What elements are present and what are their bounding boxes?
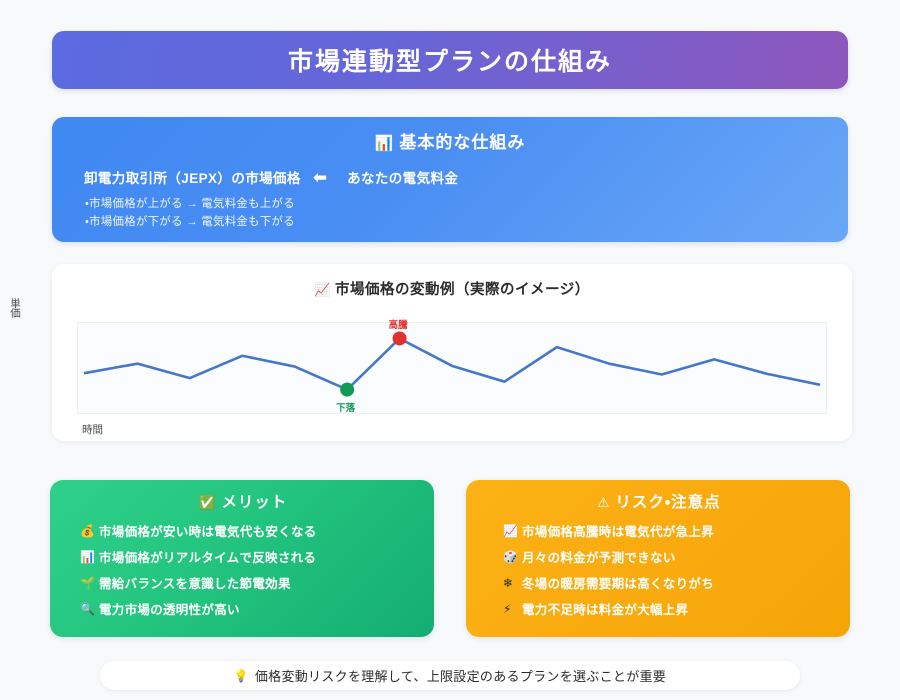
light-bulb-icon: 💡 — [234, 669, 249, 683]
magnifier-icon: 🔍 — [80, 602, 99, 616]
list-item: ❄冬場の暖房需要期は高くなりがち — [503, 573, 836, 592]
chart-annotation-label: 高騰 — [389, 317, 408, 331]
list-item-label: 電力市場の透明性が高い — [99, 599, 240, 618]
risk-item-list: 📈市場価格高騰時は電気代が急上昇🎲月々の料金が予測できない❄冬場の暖房需要期は高… — [482, 521, 836, 618]
list-item-label: 需給バランスを意識した節電効果 — [99, 573, 291, 592]
basic-bullet-list: ・市場価格が上がる → 電気料金も上がる ・市場価格が下がる → 電気料金も下が… — [74, 195, 826, 231]
list-item: 📈市場価格高騰時は電気代が急上昇 — [503, 521, 836, 540]
list-item-label: 月々の料金が予測できない — [522, 547, 676, 566]
chart-title: 📈市場価格の変動例（実際のイメージ） — [52, 264, 852, 299]
lightning-icon: ⚡ — [503, 602, 522, 616]
list-item: 🌱需給バランスを意識した節電効果 — [80, 573, 420, 592]
merit-panel: ✅メリット 💰市場価格が安い時は電気代も安くなる📊市場価格がリアルタイムで反映さ… — [50, 480, 434, 637]
list-item-label: 電力不足時は料金が大幅上昇 — [522, 599, 688, 618]
footer-note: 💡 価格変動リスクを理解して、上限設定のあるプランを選ぶことが重要 — [100, 661, 800, 690]
list-item: 🔍電力市場の透明性が高い — [80, 599, 420, 618]
list-item: 📊市場価格がリアルタイムで反映される — [80, 547, 420, 566]
list-item: ⚡電力不足時は料金が大幅上昇 — [503, 599, 836, 618]
chart-increasing-icon: 📈 — [503, 524, 522, 538]
merit-heading-label: メリット — [221, 494, 287, 511]
dice-icon: 🎲 — [503, 550, 522, 564]
snowflake-icon: ❄ — [503, 576, 522, 590]
chart-x-axis-label: 時間 — [82, 422, 103, 437]
page-title: 市場連動型プランの仕組み — [288, 42, 612, 78]
basic-panel-heading-label: 基本的な仕組み — [399, 133, 525, 152]
list-item-label: 冬場の暖房需要期は高くなりがち — [522, 573, 714, 592]
page-title-banner: 市場連動型プランの仕組み — [52, 31, 848, 89]
price-chart-card: 📈市場価格の変動例（実際のイメージ） 高騰下落 時間 — [52, 264, 852, 441]
chart-line-series — [85, 338, 819, 389]
warning-icon: ⚠ — [597, 495, 610, 510]
list-item-label: 市場価格高騰時は電気代が急上昇 — [522, 521, 714, 540]
list-item-label: 市場価格がリアルタイムで反映される — [99, 547, 316, 566]
risk-heading: ⚠リスク・注意点 — [482, 490, 836, 512]
merit-item-list: 💰市場価格が安い時は電気代も安くなる📊市場価格がリアルタイムで反映される🌱需給バ… — [66, 521, 420, 618]
money-bag-icon: 💰 — [80, 524, 99, 538]
bar-chart-icon: 📊 — [80, 550, 99, 564]
list-item-label: 市場価格が安い時は電気代も安くなる — [99, 521, 317, 540]
red-dot — [393, 331, 407, 345]
flow-source-label: 卸電力取引所（JEPX）の市場価格 — [84, 167, 301, 187]
bar-chart-icon: 📊 — [375, 135, 395, 152]
merit-heading: ✅メリット — [66, 490, 420, 512]
list-item: 💰市場価格が安い時は電気代も安くなる — [80, 521, 420, 540]
basic-panel-heading: 📊基本的な仕組み — [74, 128, 826, 153]
risk-panel: ⚠リスク・注意点 📈市場価格高騰時は電気代が急上昇🎲月々の料金が予測できない❄冬… — [466, 480, 850, 637]
seedling-icon: 🌱 — [80, 576, 99, 590]
chart-line-svg — [77, 322, 827, 414]
footer-note-text: 価格変動リスクを理解して、上限設定のあるプランを選ぶことが重要 — [255, 666, 666, 685]
basic-mechanism-panel: 📊基本的な仕組み 卸電力取引所（JEPX）の市場価格 ⬅ あなたの電気料金 ・市… — [52, 117, 848, 242]
left-arrow-icon: ⬅ — [313, 169, 327, 186]
bullet-line: ・市場価格が下がる → 電気料金も下がる — [85, 213, 826, 231]
price-flow-row: 卸電力取引所（JEPX）の市場価格 ⬅ あなたの電気料金 — [74, 167, 826, 187]
risk-heading-label: リスク・注意点 — [615, 494, 720, 511]
chart-increasing-icon: 📈 — [314, 282, 331, 297]
check-mark-icon: ✅ — [199, 495, 217, 510]
chart-title-label: 市場価格の変動例（実際のイメージ） — [335, 282, 590, 298]
chart-annotation-label: 下落 — [336, 400, 355, 414]
bullet-line: ・市場価格が上がる → 電気料金も上がる — [85, 195, 826, 213]
green-dot — [340, 383, 354, 397]
list-item: 🎲月々の料金が予測できない — [503, 547, 836, 566]
chart-plot-wrap: 高騰下落 — [77, 322, 827, 414]
chart-y-axis-label: 単価 — [8, 298, 23, 317]
flow-target-label: あなたの電気料金 — [347, 167, 458, 187]
